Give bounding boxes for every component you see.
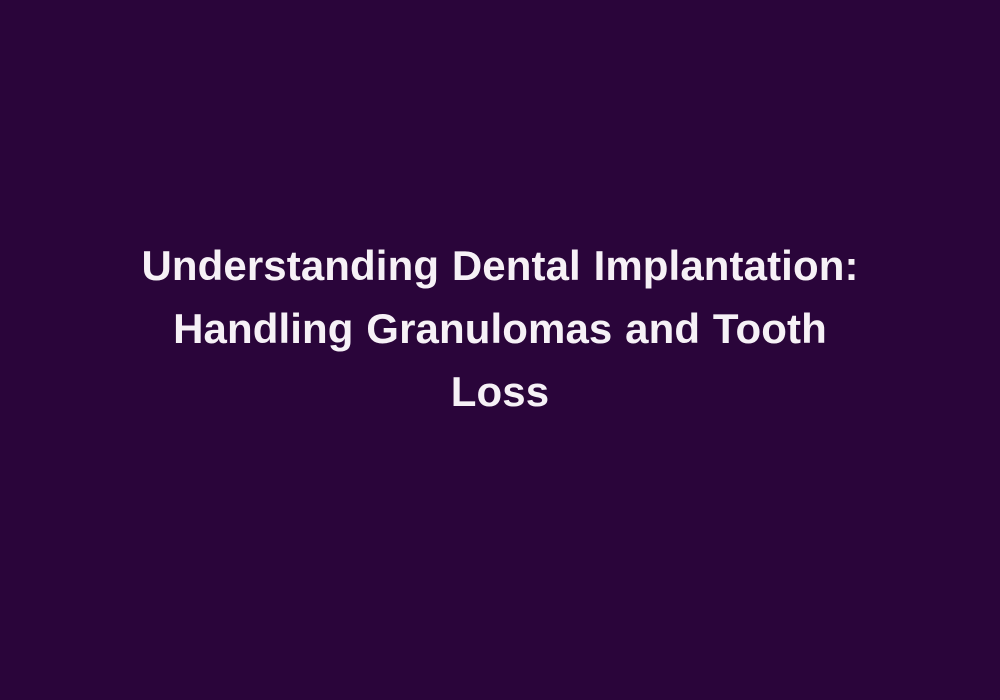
page-title: Understanding Dental Implantation: Handl… bbox=[136, 234, 864, 423]
title-card: Understanding Dental Implantation: Handl… bbox=[0, 0, 1000, 700]
headline-block: Understanding Dental Implantation: Handl… bbox=[128, 234, 872, 423]
